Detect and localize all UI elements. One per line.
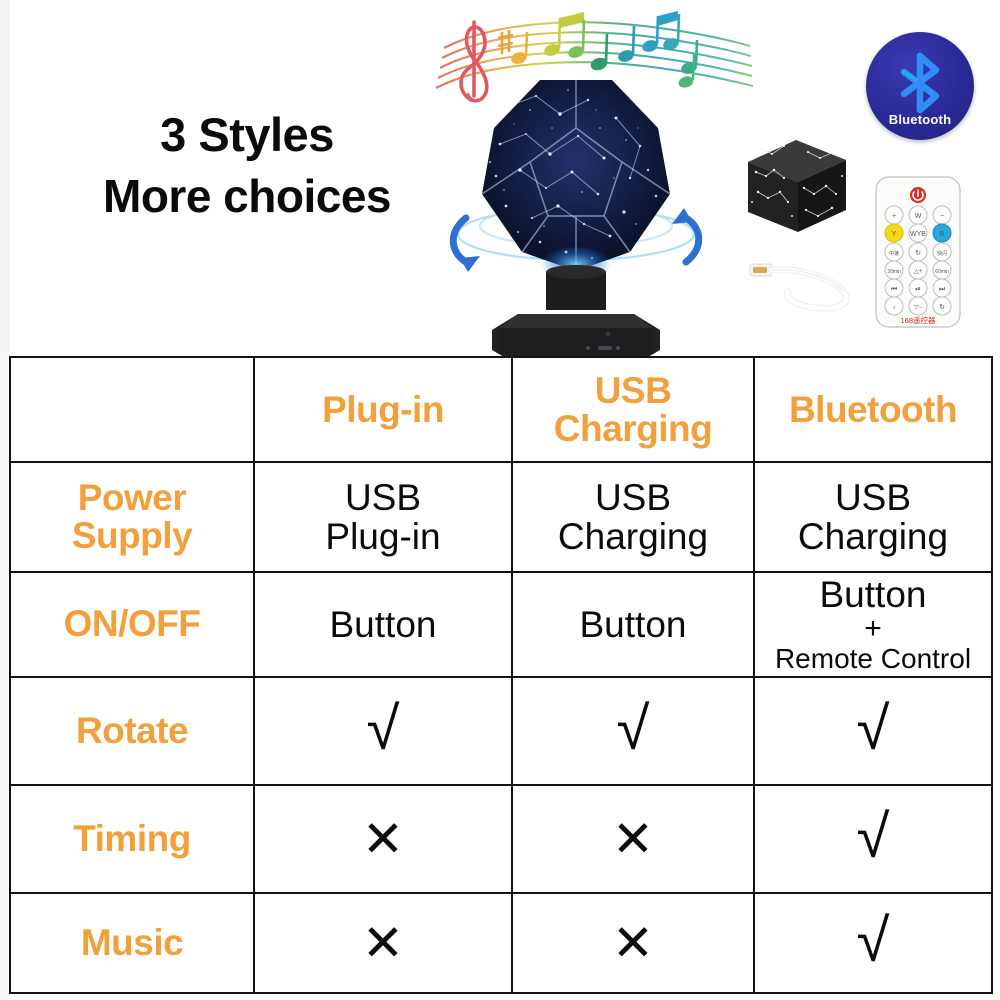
remote-control: +W− YWYBB 中速↻快闪 30min△+60min ⏮⏯⏭ ♪▽−↻ 16… (872, 175, 964, 330)
row-label-power-supply: Power Supply (10, 462, 254, 572)
cell-power-supply-bluetooth-line-2: Charging (798, 516, 948, 557)
svg-text:WYB: WYB (910, 231, 926, 238)
column-header-usb-charging-label: USB Charging (513, 372, 753, 447)
headline-line-1: 3 Styles (160, 108, 334, 161)
cell-on-off-usb-text: Button (580, 604, 687, 645)
row-label-rotate: Rotate (10, 677, 254, 785)
cell-on-off-bluetooth-line-1: Button (820, 574, 927, 615)
column-header-plugin-label: Plug-in (322, 389, 444, 430)
hero-section: 3 Styles More choices (0, 0, 1000, 355)
check-icon: √ (617, 699, 650, 759)
cell-rotate-bluetooth: √ (754, 677, 992, 785)
cell-on-off-plugin-text: Button (330, 604, 437, 645)
bluetooth-badge: Bluetooth (866, 32, 974, 140)
left-edge-band-lower (0, 352, 8, 1000)
cell-power-supply-bluetooth-line-1: USB (835, 477, 911, 518)
svg-text:Y: Y (892, 231, 897, 238)
svg-text:−: − (940, 213, 944, 220)
cell-timing-plugin: ✕ (254, 785, 512, 893)
row-label-on-off-text: ON/OFF (64, 603, 201, 644)
svg-text:B: B (940, 231, 945, 238)
comparison-table: Plug-in USB Charging Bluetooth Power (9, 356, 993, 994)
cell-timing-bluetooth: √ (754, 785, 992, 893)
row-label-timing: Timing (10, 785, 254, 893)
headline-line-2: More choices (52, 166, 442, 227)
cell-on-off-bluetooth: Button + Remote Control (754, 572, 992, 677)
cell-power-supply-usb: USB Charging (512, 462, 754, 572)
svg-text:↻: ↻ (915, 250, 921, 257)
cell-power-supply-plugin-line-2: Plug-in (325, 516, 440, 557)
cell-on-off-bluetooth-line-2: Remote Control (755, 644, 991, 673)
svg-text:60min: 60min (935, 269, 949, 275)
svg-text:30min: 30min (887, 269, 901, 275)
svg-text:⏭: ⏭ (939, 286, 946, 293)
cell-rotate-plugin: √ (254, 677, 512, 785)
bluetooth-badge-label: Bluetooth (866, 112, 974, 127)
star-projector-lamp (440, 66, 712, 356)
table-corner-cell (10, 357, 254, 462)
product-comparison-page: 3 Styles More choices (0, 0, 1000, 1000)
table-row-rotate: Rotate √ √ √ (10, 677, 992, 785)
usb-cable (748, 248, 868, 318)
cross-icon: ✕ (362, 918, 404, 968)
cell-on-off-usb: Button (512, 572, 754, 677)
check-icon: √ (857, 699, 890, 759)
row-label-music-text: Music (81, 922, 183, 963)
cross-icon: ✕ (612, 814, 654, 864)
svg-text:△+: △+ (914, 269, 923, 275)
bluetooth-icon (894, 52, 946, 119)
cell-power-supply-usb-line-2: Charging (558, 516, 708, 557)
usb-header-line-2: Charging (554, 408, 712, 449)
table-row-timing: Timing ✕ ✕ √ (10, 785, 992, 893)
remote-brand-label: 168遥控器 (900, 315, 936, 325)
cell-power-supply-plugin-line-1: USB (345, 477, 421, 518)
cell-music-plugin: ✕ (254, 893, 512, 993)
cell-on-off-bluetooth-plus: + (755, 614, 991, 644)
constellation-gift-box (738, 132, 856, 242)
check-icon: √ (367, 699, 400, 759)
usb-header-line-1: USB (595, 370, 672, 411)
svg-text:中速: 中速 (889, 250, 899, 257)
row-label-music: Music (10, 893, 254, 993)
row-label-timing-text: Timing (73, 818, 191, 859)
cell-music-usb: ✕ (512, 893, 754, 993)
svg-text:⏯: ⏯ (915, 286, 921, 293)
row-label-rotate-text: Rotate (76, 710, 188, 751)
svg-text:+: + (892, 213, 896, 220)
svg-text:W: W (915, 213, 922, 220)
table-row-power-supply: Power Supply USB Plug-in USB Charging (10, 462, 992, 572)
row-label-on-off: ON/OFF (10, 572, 254, 677)
svg-text:↻: ↻ (939, 304, 945, 311)
row-label-power-supply-line-2: Supply (72, 515, 192, 556)
svg-text:快闪: 快闪 (937, 250, 947, 257)
check-icon: √ (857, 911, 890, 971)
cross-icon: ✕ (612, 918, 654, 968)
svg-text:♪: ♪ (893, 305, 896, 311)
column-header-plugin: Plug-in (254, 357, 512, 462)
cell-power-supply-bluetooth: USB Charging (754, 462, 992, 572)
cell-on-off-plugin: Button (254, 572, 512, 677)
cell-power-supply-plugin: USB Plug-in (254, 462, 512, 572)
page-title: 3 Styles More choices (52, 104, 442, 227)
check-icon: √ (857, 807, 890, 867)
cell-power-supply-usb-line-1: USB (595, 477, 671, 518)
cell-music-bluetooth: √ (754, 893, 992, 993)
cell-timing-usb: ✕ (512, 785, 754, 893)
svg-text:▽−: ▽− (914, 305, 923, 311)
column-header-bluetooth: Bluetooth (754, 357, 992, 462)
column-header-usb-charging: USB Charging (512, 357, 754, 462)
cross-icon: ✕ (362, 814, 404, 864)
table-row-on-off: ON/OFF Button Button Button + Remote Con… (10, 572, 992, 677)
svg-text:⏮: ⏮ (891, 286, 897, 293)
row-label-power-supply-line-1: Power (78, 477, 187, 518)
cell-rotate-usb: √ (512, 677, 754, 785)
table-row-music: Music ✕ ✕ √ (10, 893, 992, 993)
column-header-bluetooth-label: Bluetooth (789, 389, 957, 430)
table-header-row: Plug-in USB Charging Bluetooth (10, 357, 992, 462)
